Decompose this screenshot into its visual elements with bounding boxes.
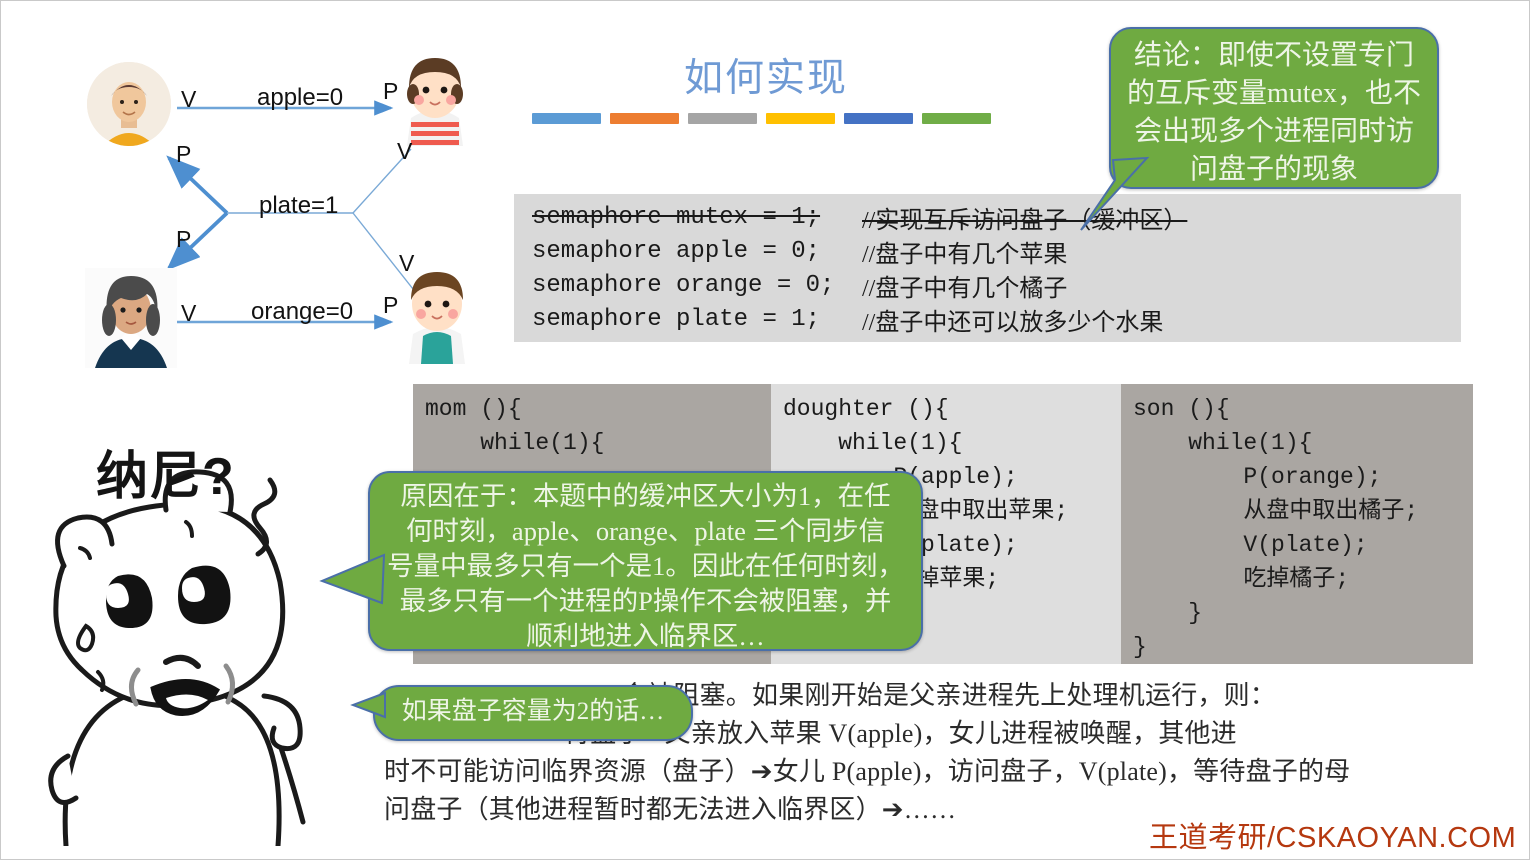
semaphore-code-plate: semaphore plate = 1; — [532, 306, 862, 333]
callout-conclusion-tail — [1069, 154, 1159, 244]
semaphore-declaration-block: semaphore mutex = 1; //实现互斥访问盘子（缓冲区） sem… — [514, 194, 1461, 342]
semaphore-line-apple: semaphore apple = 0; //盘子中有几个苹果 — [532, 234, 1461, 268]
edge-op-v-apple: V — [181, 86, 196, 113]
callout-plate-capacity-tail — [349, 689, 389, 729]
accent-bar-4 — [766, 113, 835, 124]
callout-conclusion[interactable]: 结论：即使不设置专门 的互斥变量mutex，也不 会出现多个进程同时访 问盘子的… — [1109, 27, 1439, 189]
semaphore-code-orange: semaphore orange = 0; — [532, 272, 862, 299]
bear-mascot: 纳尼? — [26, 426, 371, 846]
father-avatar — [87, 62, 171, 146]
callout-reason-line-4: 最多只有一个进程的P操作不会被阻塞，并 — [386, 584, 905, 619]
accent-bar-2 — [610, 113, 679, 124]
edge-label-plate: plate=1 — [259, 192, 338, 220]
accent-bar-1 — [532, 113, 601, 124]
edge-op-v-plate-son: V — [399, 250, 414, 277]
semaphore-comment-orange: //盘子中有几个橘子 — [862, 268, 1067, 303]
callout-reason-line-1: 原因在于：本题中的缓冲区大小为1，在任 — [386, 479, 905, 514]
son-avatar — [401, 268, 473, 364]
callout-plate-capacity-text: 如果盘子容量为2的话… — [402, 698, 665, 725]
callout-reason-line-2: 何时刻，apple、orange、plate 三个同步信 — [386, 514, 905, 549]
paragraph-line-2: 待盘子➔父亲放入苹果 V(apple)，女儿进程被唤醒，其他进 — [564, 715, 1494, 753]
callout-reason-line-3: 号量中最多只有一个是1。因此在任何时刻， — [386, 549, 905, 584]
mother-avatar — [85, 268, 177, 368]
paragraph-line-1: 会被阻塞。如果刚开始是父亲进程先上处理机运行，则： — [621, 677, 1494, 715]
edge-op-p-plate-mother: P — [176, 226, 191, 253]
callout-reason-tail — [318, 551, 388, 621]
callout-plate-capacity[interactable]: 如果盘子容量为2的话… — [373, 685, 693, 741]
edge-op-v-plate-daughter: V — [397, 138, 412, 165]
slide-canvas: 如何实现 — [0, 0, 1530, 860]
accent-bars — [532, 113, 992, 125]
semaphore-code-mutex: semaphore mutex = 1; — [532, 204, 862, 231]
watermark: 王道考研/CSKAOYAN.COM — [1149, 814, 1516, 856]
edge-op-p-orange: P — [383, 292, 398, 319]
callout-conclusion-line-4: 问盘子的现象 — [1125, 151, 1423, 189]
callout-reason[interactable]: 原因在于：本题中的缓冲区大小为1，在任 何时刻，apple、orange、pla… — [368, 471, 923, 651]
accent-bar-3 — [688, 113, 757, 124]
callout-conclusion-line-1: 结论：即使不设置专门 — [1125, 37, 1423, 75]
code-column-son: son (){ while(1){ P(orange); 从盘中取出橘子; V(… — [1121, 384, 1473, 664]
edge-label-orange: orange=0 — [251, 298, 353, 326]
page-title: 如何实现 — [521, 47, 1011, 103]
edge-label-apple: apple=0 — [257, 84, 343, 112]
semaphore-line-mutex: semaphore mutex = 1; //实现互斥访问盘子（缓冲区） — [532, 200, 1461, 234]
semaphore-line-plate: semaphore plate = 1; //盘子中还可以放多少个水果 — [532, 302, 1461, 336]
callout-conclusion-line-3: 会出现多个进程同时访 — [1125, 113, 1423, 151]
paragraph-line-3: 时不可能访问临界资源（盘子）➔女儿 P(apple)，访问盘子，V(plate)… — [384, 753, 1494, 791]
accent-bar-6 — [922, 113, 991, 124]
mascot-caption: 纳尼? — [96, 434, 235, 509]
semaphore-code-apple: semaphore apple = 0; — [532, 238, 862, 265]
edge-op-v-orange: V — [181, 300, 196, 327]
daughter-avatar — [399, 54, 471, 146]
semaphore-comment-plate: //盘子中还可以放多少个水果 — [862, 302, 1163, 337]
semaphore-line-orange: semaphore orange = 0; //盘子中有几个橘子 — [532, 268, 1461, 302]
edge-op-p-apple: P — [383, 78, 398, 105]
callout-conclusion-line-2: 的互斥变量mutex，也不 — [1125, 75, 1423, 113]
callout-reason-line-5: 顺利地进入临界区… — [386, 619, 905, 654]
semaphore-comment-apple: //盘子中有几个苹果 — [862, 234, 1067, 269]
edge-op-p-plate-father: P — [176, 141, 191, 168]
accent-bar-5 — [844, 113, 913, 124]
process-relationship-diagram: V apple=0 P P P plate=1 V V V orange=0 P — [81, 46, 501, 376]
